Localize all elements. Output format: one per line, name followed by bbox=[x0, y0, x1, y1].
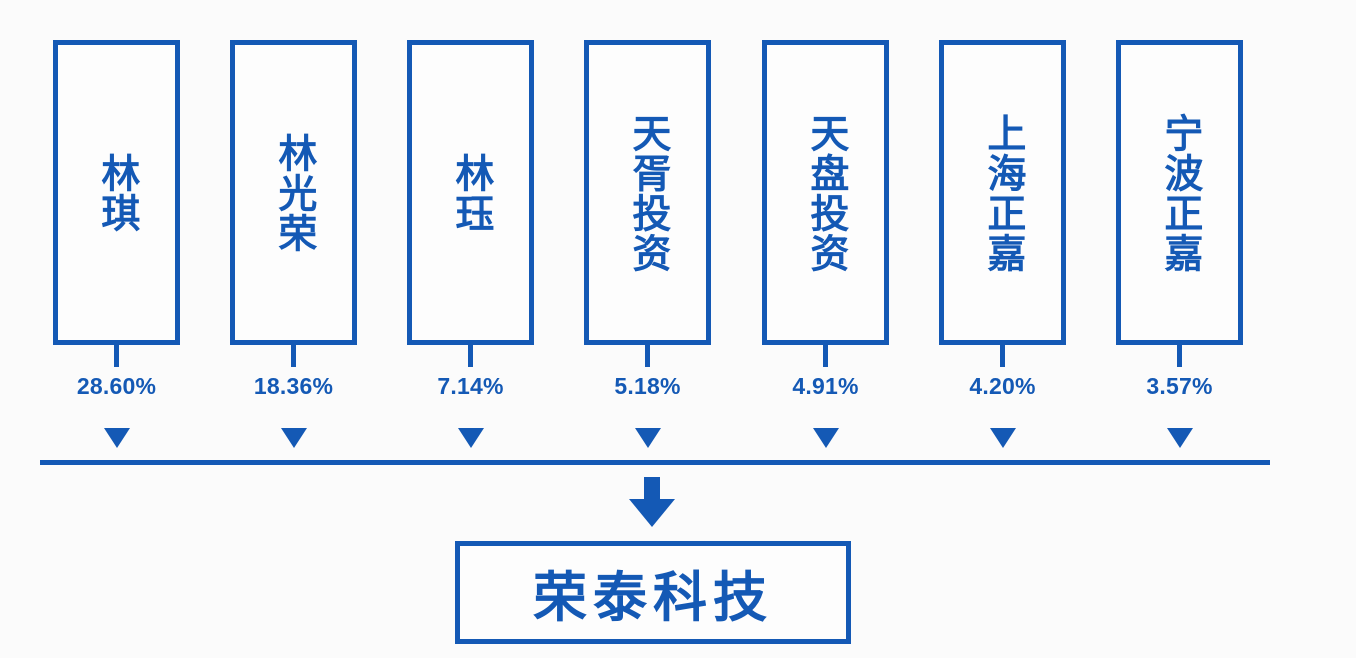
shareholder-name-3: 林珏 bbox=[448, 153, 493, 233]
shareholder-name-5: 天盘投资 bbox=[803, 113, 848, 273]
connector-stem-1 bbox=[114, 345, 119, 367]
shareholder-node-4: 天胥投资 5.18% bbox=[584, 40, 711, 345]
aggregation-bus-line bbox=[40, 460, 1270, 465]
shareholder-name-7: 宁波正嘉 bbox=[1157, 113, 1202, 273]
shareholder-node-6: 上海正嘉 4.20% bbox=[939, 40, 1066, 345]
shareholder-name-6: 上海正嘉 bbox=[980, 113, 1025, 273]
down-triangle-icon-3 bbox=[458, 428, 484, 448]
connector-stem-5 bbox=[823, 345, 828, 367]
down-arrow-icon-main bbox=[629, 477, 675, 527]
shareholder-box-2: 林光荣 bbox=[230, 40, 357, 345]
connector-stem-4 bbox=[645, 345, 650, 367]
company-box: 荣泰科技 bbox=[455, 541, 851, 644]
shareholder-name-1: 林琪 bbox=[94, 153, 139, 233]
shareholder-box-3: 林珏 bbox=[407, 40, 534, 345]
shareholder-box-6: 上海正嘉 bbox=[939, 40, 1066, 345]
shareholder-name-2: 林光荣 bbox=[271, 133, 316, 253]
down-triangle-icon-5 bbox=[813, 428, 839, 448]
arrow-head bbox=[629, 499, 675, 527]
shareholder-node-5: 天盘投资 4.91% bbox=[762, 40, 889, 345]
down-triangle-icon-6 bbox=[990, 428, 1016, 448]
arrow-shaft bbox=[644, 477, 660, 501]
shareholder-percent-3: 7.14% bbox=[379, 373, 562, 400]
down-triangle-icon-2 bbox=[281, 428, 307, 448]
shareholder-node-1: 林琪 28.60% bbox=[53, 40, 180, 345]
shareholder-percent-2: 18.36% bbox=[202, 373, 385, 400]
down-triangle-icon-4 bbox=[635, 428, 661, 448]
company-name: 荣泰科技 bbox=[533, 553, 773, 632]
shareholder-percent-7: 3.57% bbox=[1088, 373, 1271, 400]
shareholder-box-5: 天盘投资 bbox=[762, 40, 889, 345]
shareholder-box-7: 宁波正嘉 bbox=[1116, 40, 1243, 345]
shareholder-percent-1: 28.60% bbox=[25, 373, 208, 400]
down-triangle-icon-1 bbox=[104, 428, 130, 448]
connector-stem-6 bbox=[1000, 345, 1005, 367]
ownership-diagram-canvas: 林琪 28.60% 林光荣 18.36% 林珏 7.14% 天胥投资 5.18% bbox=[0, 0, 1356, 658]
shareholder-box-1: 林琪 bbox=[53, 40, 180, 345]
shareholder-name-4: 天胥投资 bbox=[625, 113, 670, 273]
connector-stem-7 bbox=[1177, 345, 1182, 367]
shareholder-node-2: 林光荣 18.36% bbox=[230, 40, 357, 345]
connector-stem-2 bbox=[291, 345, 296, 367]
shareholder-box-4: 天胥投资 bbox=[584, 40, 711, 345]
shareholder-node-7: 宁波正嘉 3.57% bbox=[1116, 40, 1243, 345]
connector-stem-3 bbox=[468, 345, 473, 367]
shareholder-percent-5: 4.91% bbox=[734, 373, 917, 400]
down-triangle-icon-7 bbox=[1167, 428, 1193, 448]
shareholder-node-3: 林珏 7.14% bbox=[407, 40, 534, 345]
shareholder-percent-4: 5.18% bbox=[556, 373, 739, 400]
shareholder-percent-6: 4.20% bbox=[911, 373, 1094, 400]
